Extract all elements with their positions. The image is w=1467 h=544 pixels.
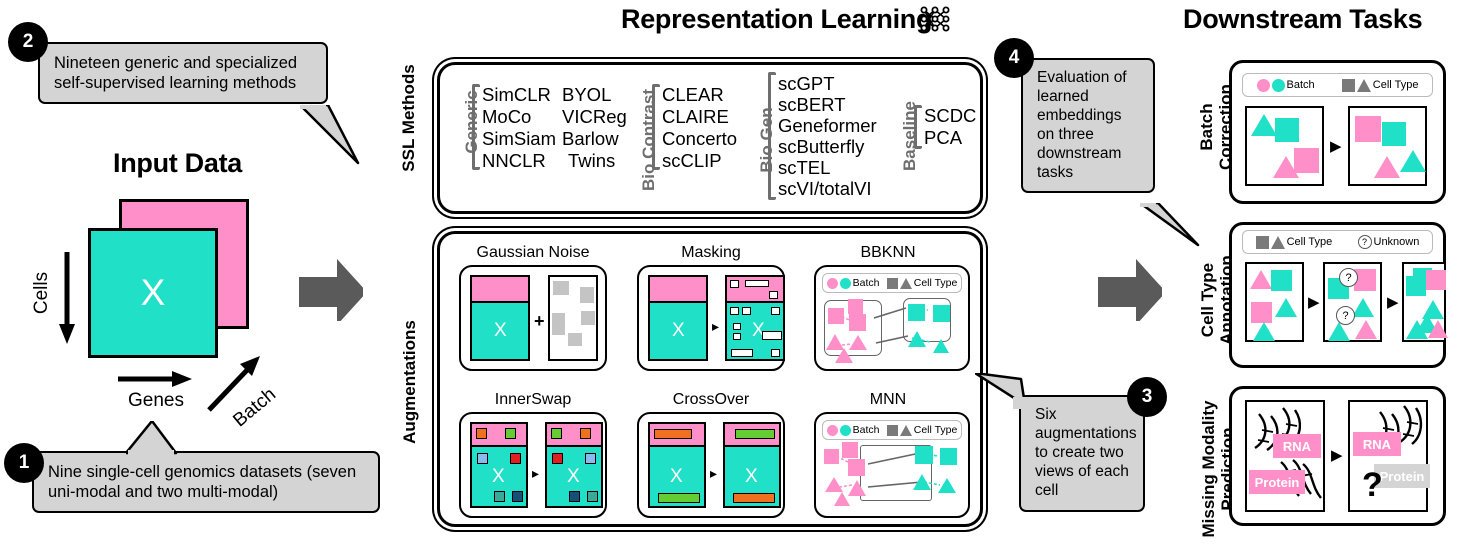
mask-out-pink-block xyxy=(725,275,785,303)
neural-network-icon xyxy=(917,4,953,34)
mnn-pink-square-3 xyxy=(848,459,865,476)
bc-legend-celltype-label: Cell Type xyxy=(1373,79,1419,91)
ssl-bracket-generic xyxy=(472,84,480,170)
mnn-teal-square-2 xyxy=(940,448,957,465)
mnn-legend-batch-label: Batch xyxy=(853,424,880,436)
callout-3-text: Six augmentations to create two views of… xyxy=(1019,395,1145,512)
cta2-unknown-badge-2: ? xyxy=(1336,306,1355,325)
innerswap-out-teal: X xyxy=(545,445,603,508)
bc-before-teal-triangle xyxy=(1251,114,1277,136)
mnn-teal-triangle-1 xyxy=(913,474,931,490)
callout-3-badge: 3 xyxy=(1127,377,1167,417)
ssl-method-scdc: SCDC xyxy=(924,105,976,127)
task-label-batch-correction-line1: Batch xyxy=(1197,72,1216,182)
ssl-bracket-bio-contrast xyxy=(652,84,660,170)
grey-square-icon xyxy=(1342,79,1355,92)
batch-correction-after xyxy=(1348,106,1427,186)
ssl-method-scvi-totalvi: scVI/totalVI xyxy=(778,178,872,200)
cta-legend-celltype: Cell Type xyxy=(1256,236,1333,249)
ssl-bracket-baseline xyxy=(914,105,922,149)
ssl-method-simclr: SimCLR xyxy=(482,84,551,106)
pink-dot-icon xyxy=(827,425,838,436)
ssl-method-sctel: scTEL xyxy=(778,157,830,179)
cell-type-annotation-step3 xyxy=(1402,262,1446,342)
gauss-operator: + xyxy=(534,311,545,332)
innerswap-in-pink xyxy=(470,422,528,447)
gauss-matrix-symbol: X xyxy=(494,320,507,342)
bbknn-teal-triangle-1 xyxy=(908,331,926,347)
cells-axis-arrow xyxy=(58,252,76,344)
callout-4: Evaluation of learned embeddings on thre… xyxy=(1021,58,1155,193)
question-circle-icon: ? xyxy=(1358,235,1372,249)
cta-legend-unknown: ? Unknown xyxy=(1358,235,1420,249)
crossover-operator: ▸ xyxy=(710,465,717,482)
gauss-pink-block xyxy=(470,275,530,303)
flow-arrow-right xyxy=(1098,259,1162,321)
augmentation-title-bbknn: BBKNN xyxy=(810,244,966,262)
grey-square-icon xyxy=(887,278,898,289)
mnn-legend-celltype: Cell Type xyxy=(887,424,958,436)
bc-after-pink-triangle xyxy=(1374,156,1400,178)
augmentation-title-mnn: MNN xyxy=(810,391,966,409)
crossover-in-teal: X xyxy=(648,445,706,508)
callout-1-badge: 1 xyxy=(4,443,44,483)
mnn-teal-triangle-2 xyxy=(938,478,956,493)
cta3-pink-triangle xyxy=(1428,320,1448,338)
cell-type-annotation-step2: ? ? xyxy=(1323,262,1382,342)
cta1-teal-triangle-2 xyxy=(1253,322,1275,341)
bbknn-teal-triangle-2 xyxy=(933,339,949,353)
batch-correction-legend: Batch Cell Type xyxy=(1242,73,1433,97)
cell-type-annotation-arrow-2: ▶ xyxy=(1387,295,1399,310)
cta1-pink-triangle xyxy=(1250,270,1272,289)
augmentation-title-masking: Masking xyxy=(633,244,789,262)
bc-legend-batch-label: Batch xyxy=(1287,79,1315,91)
bbknn-teal-square-2 xyxy=(933,305,950,322)
task-label-cell-type-annotation-line1: Cell Type xyxy=(1198,242,1217,358)
cta2-unknown-badge-1: ? xyxy=(1339,268,1358,287)
bbknn-pink-square-3 xyxy=(849,314,866,331)
innerswap-in-symbol: X xyxy=(492,466,505,488)
crossover-out-symbol: X xyxy=(745,466,758,488)
genes-axis-arrow xyxy=(118,370,192,388)
ssl-method-moco: MoCo xyxy=(482,106,531,128)
crossover-in-symbol: X xyxy=(670,466,683,488)
innerswap-out-symbol: X xyxy=(567,466,580,488)
callout-2-tail xyxy=(300,105,360,165)
innerswap-in-teal: X xyxy=(470,445,528,508)
missing-modality-after: RNA Protein ? xyxy=(1348,400,1428,512)
flow-arrow-left xyxy=(299,259,363,321)
mnn-teal-square-1 xyxy=(915,446,933,464)
gauss-teal-block: X xyxy=(470,301,530,361)
ssl-method-scbutterfly: scButterfly xyxy=(778,136,864,158)
grey-triangle-icon xyxy=(1271,236,1285,249)
pink-dot-icon xyxy=(827,278,838,289)
mnn-pink-square-2 xyxy=(842,442,858,458)
grey-square-icon xyxy=(887,425,898,436)
callout-2-badge: 2 xyxy=(8,22,48,62)
input-matrix-symbol: X xyxy=(141,272,166,314)
crossover-out-pink xyxy=(723,422,781,447)
cta1-teal-square xyxy=(1271,270,1292,291)
ssl-method-barlow: Barlow xyxy=(562,128,619,150)
mask-out-teal-block: X xyxy=(725,301,785,361)
bbknn-legend-celltype: Cell Type xyxy=(887,277,958,289)
rna-label: RNA xyxy=(1273,434,1321,458)
grey-triangle-icon xyxy=(900,278,912,289)
protein-label: Protein xyxy=(1249,470,1305,494)
page-title-input-data: Input Data xyxy=(113,148,242,179)
augmentation-title-crossover: CrossOver xyxy=(633,391,789,409)
bc-after-pink-square xyxy=(1355,116,1381,142)
mask-operator: ▸ xyxy=(712,318,719,335)
teal-dot-icon xyxy=(840,278,851,289)
batch-correction-arrow: ▶ xyxy=(1330,139,1342,154)
innerswap-operator: ▸ xyxy=(532,465,539,482)
callout-4-text: Evaluation of learned embeddings on thre… xyxy=(1021,58,1155,193)
bbknn-pink-triangle-3 xyxy=(835,348,853,363)
cta-legend-unknown-label: Unknown xyxy=(1374,236,1420,248)
cell-type-annotation-legend: Cell Type ? Unknown xyxy=(1242,230,1433,254)
cell-type-annotation-arrow-1: ▶ xyxy=(1308,295,1320,310)
ssl-methods-section-label: SSL Methods xyxy=(399,58,419,178)
mnn-pink-square-1 xyxy=(824,449,839,464)
ssl-method-scclip: scCLIP xyxy=(662,150,722,172)
ssl-method-twins: Twins xyxy=(568,150,615,172)
missing-modality-before: RNA Protein xyxy=(1245,400,1325,512)
cta1-teal-triangle-1 xyxy=(1275,298,1297,317)
bbknn-legend-celltype-label: Cell Type xyxy=(914,277,958,289)
missing-modality-arrow: ▶ xyxy=(1331,448,1343,463)
callout-3: Six augmentations to create two views of… xyxy=(1019,395,1145,512)
mask-pink-block xyxy=(648,275,708,303)
cta-legend-celltype-label: Cell Type xyxy=(1287,236,1333,248)
bc-before-teal-square xyxy=(1275,118,1299,142)
teal-dot-icon xyxy=(1272,79,1285,92)
cta2-teal-triangle-1 xyxy=(1352,298,1374,317)
bbknn-pink-square-1 xyxy=(828,308,844,324)
ssl-method-simsiam: SimSiam xyxy=(482,128,556,150)
ssl-method-claire: CLAIRE xyxy=(662,106,729,128)
callout-1: Nine single-cell genomics datasets (seve… xyxy=(32,451,380,513)
callout-1-text: Nine single-cell genomics datasets (seve… xyxy=(32,451,380,513)
ssl-method-vicreg: VICReg xyxy=(562,106,627,128)
callout-2: Nineteen generic and specialized self-su… xyxy=(38,42,328,104)
ssl-method-byol: BYOL xyxy=(562,84,611,106)
augmentations-section-label: Augmentations xyxy=(400,307,420,457)
bbknn-legend-batch-label: Batch xyxy=(853,277,880,289)
ssl-method-concerto: Concerto xyxy=(662,128,737,150)
pink-dot-icon xyxy=(1257,79,1270,92)
bbknn-teal-square-1 xyxy=(908,304,925,321)
mnn-legend-batch: Batch xyxy=(827,424,880,436)
ssl-method-scgpt: scGPT xyxy=(778,73,835,95)
mnn-legend: Batch Cell Type xyxy=(822,420,962,440)
innerswap-out-pink xyxy=(545,422,603,447)
callout-1-tail xyxy=(126,421,180,455)
bbknn-legend-batch: Batch xyxy=(827,277,880,289)
cell-type-annotation-step1 xyxy=(1245,262,1304,342)
crossover-in-pink xyxy=(648,422,706,447)
mask-teal-block: X xyxy=(648,301,708,361)
augmentation-title-innerswap: InnerSwap xyxy=(455,391,611,409)
cells-axis-label: Cells xyxy=(31,263,53,323)
bc-after-teal-square xyxy=(1382,122,1406,146)
callout-3-tail xyxy=(975,373,1027,409)
grey-triangle-icon xyxy=(900,425,912,436)
cta1-pink-square xyxy=(1251,302,1272,323)
mnn-legend-celltype-label: Cell Type xyxy=(914,424,958,436)
cta3-pink-square xyxy=(1426,270,1446,290)
cta2-pink-triangle xyxy=(1355,320,1377,339)
ssl-bracket-bio-gen xyxy=(768,72,776,200)
bc-after-teal-triangle xyxy=(1400,150,1426,172)
grey-square-icon xyxy=(1256,236,1269,249)
ssl-method-geneformer: Geneformer xyxy=(778,115,877,137)
callout-4-badge: 4 xyxy=(994,38,1034,78)
missing-question-mark: ? xyxy=(1362,468,1383,502)
callout-4-tail xyxy=(1140,203,1202,249)
task-label-missing-modality-line1: Missing Modality xyxy=(1199,394,1218,544)
mnn-pink-triangle-2 xyxy=(848,480,866,496)
ssl-method-scbert: scBERT xyxy=(778,94,846,116)
mnn-pink-triangle-1 xyxy=(825,477,843,492)
genes-axis-label: Genes xyxy=(117,390,195,412)
grey-triangle-icon xyxy=(1357,79,1371,92)
augmentation-title-gaussian-noise: Gaussian Noise xyxy=(455,244,611,262)
page-title-downstream-tasks: Downstream Tasks xyxy=(1183,4,1422,35)
rna-label: RNA xyxy=(1353,432,1401,456)
bc-legend-batch: Batch xyxy=(1257,79,1315,92)
callout-2-text: Nineteen generic and specialized self-su… xyxy=(38,42,328,104)
ssl-method-nnclr: NNCLR xyxy=(482,150,546,172)
input-matrix-teal-layer: X xyxy=(88,228,218,358)
mask-matrix-symbol: X xyxy=(672,320,685,342)
teal-dot-icon xyxy=(840,425,851,436)
page-title-representation-learning: Representation Learning xyxy=(621,4,932,35)
batch-correction-before xyxy=(1245,106,1324,186)
bbknn-legend: Batch Cell Type xyxy=(822,273,962,293)
bc-before-pink-square xyxy=(1294,148,1319,173)
crossover-out-teal: X xyxy=(723,445,781,508)
bbknn-pink-square-2 xyxy=(848,299,863,314)
ssl-method-clear: CLEAR xyxy=(662,84,724,106)
bc-legend-celltype: Cell Type xyxy=(1342,79,1419,92)
gauss-noise-block xyxy=(548,275,598,361)
mnn-pink-triangle-3 xyxy=(834,492,850,506)
ssl-method-pca: PCA xyxy=(924,127,962,149)
